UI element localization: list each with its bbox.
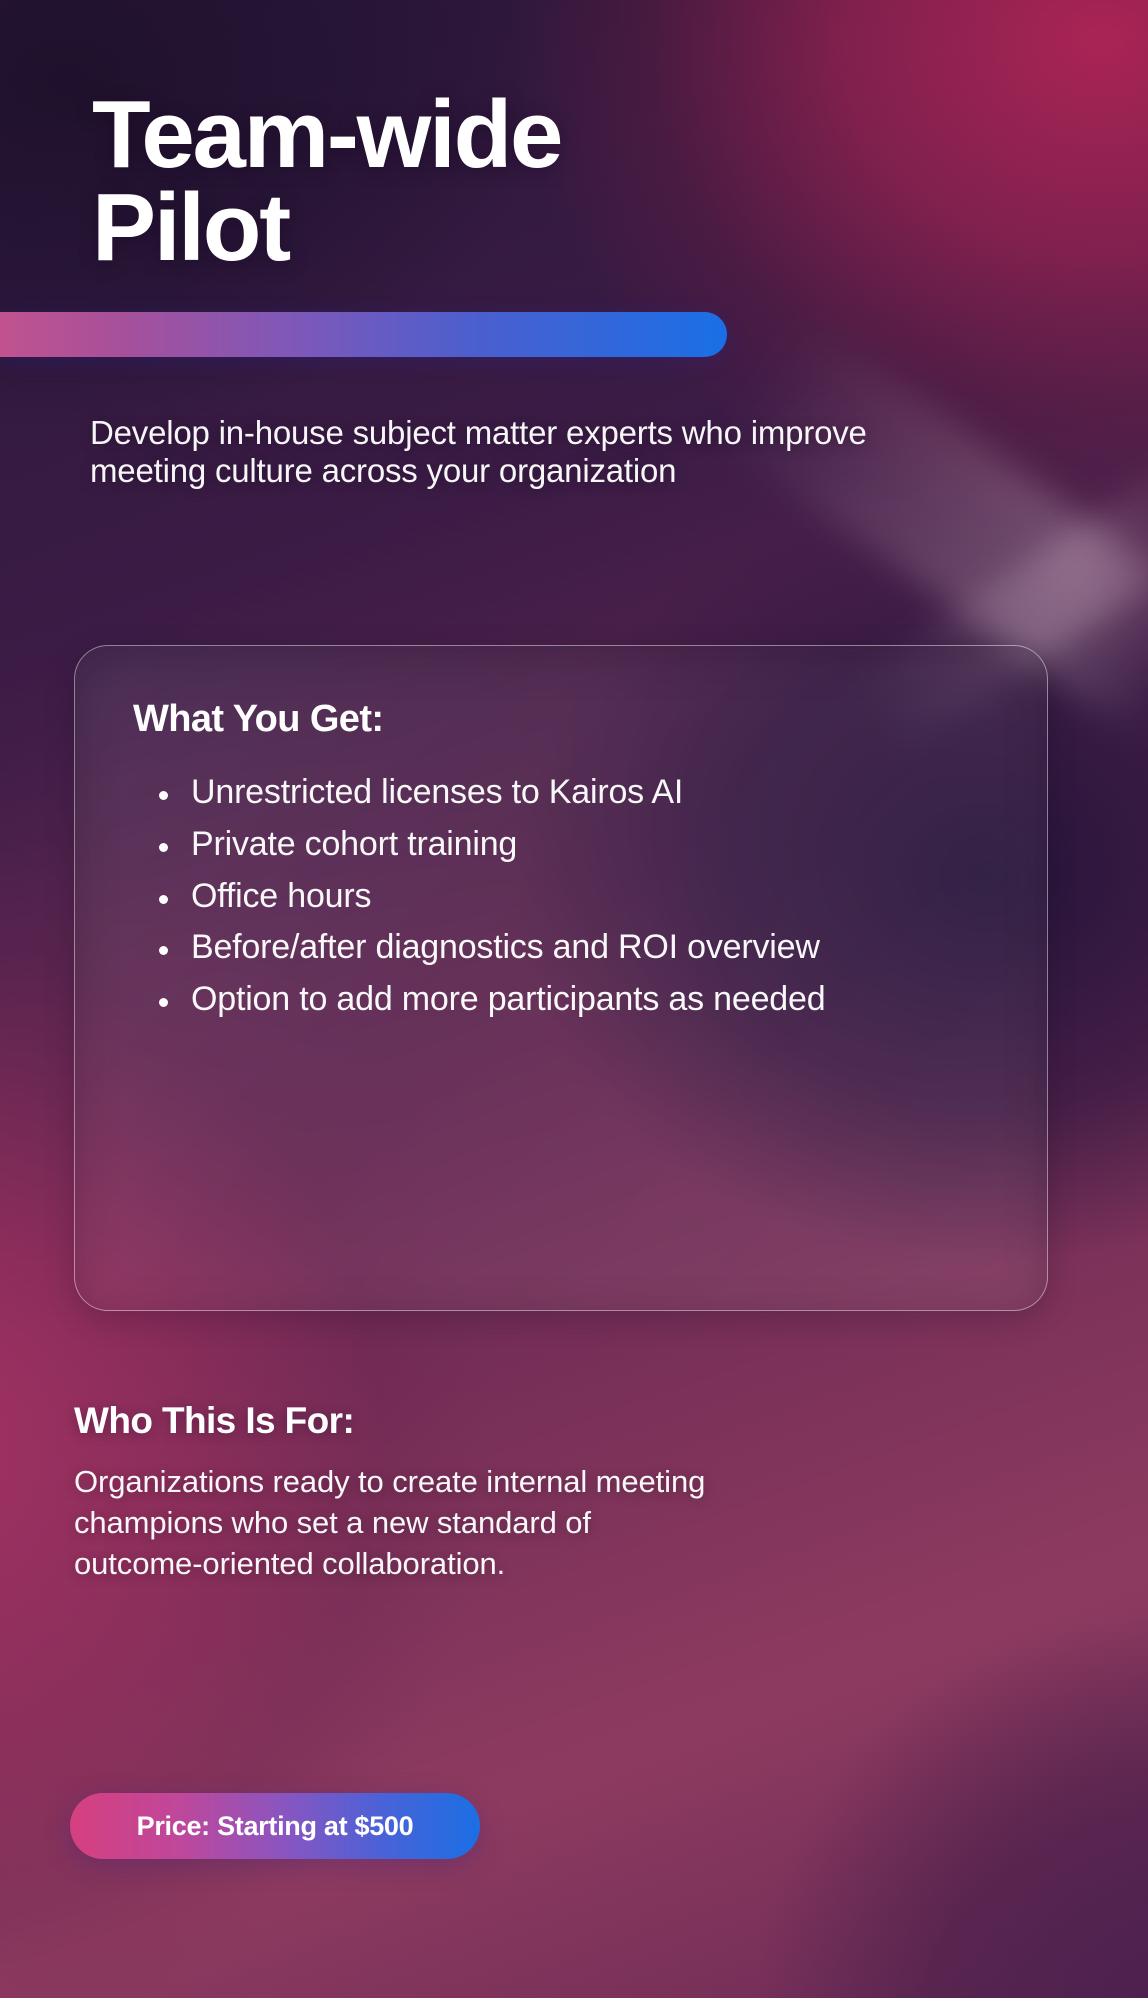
list-item: Option to add more participants as neede… xyxy=(133,980,989,1020)
benefits-list: Unrestricted licenses to Kairos AI Priva… xyxy=(133,773,989,1020)
page-title-line-2: Pilot xyxy=(92,174,289,281)
list-item: Office hours xyxy=(133,877,989,917)
audience-body: Organizations ready to create internal m… xyxy=(74,1462,714,1585)
price-button[interactable]: Price: Starting at $500 xyxy=(70,1793,480,1859)
poster-content: Team-widePilot Develop in-house subject … xyxy=(0,0,1148,1998)
hero-subtitle: Develop in-house subject matter experts … xyxy=(90,414,890,491)
audience-heading: Who This Is For: xyxy=(74,1400,354,1442)
card-inner: What You Get: Unrestricted licenses to K… xyxy=(75,646,1047,1310)
list-item: Unrestricted licenses to Kairos AI xyxy=(133,773,989,813)
page-title-line-1: Team-wide xyxy=(92,81,561,188)
pricing-tier-poster: Team-widePilot Develop in-house subject … xyxy=(0,0,1148,1998)
hero-title-block: Team-widePilot xyxy=(92,88,852,274)
card-heading: What You Get: xyxy=(133,698,989,741)
page-title: Team-widePilot xyxy=(92,88,852,274)
list-item: Before/after diagnostics and ROI overvie… xyxy=(133,928,989,968)
title-accent-bar xyxy=(0,312,727,357)
what-you-get-card: What You Get: Unrestricted licenses to K… xyxy=(74,645,1048,1311)
list-item: Private cohort training xyxy=(133,825,989,865)
